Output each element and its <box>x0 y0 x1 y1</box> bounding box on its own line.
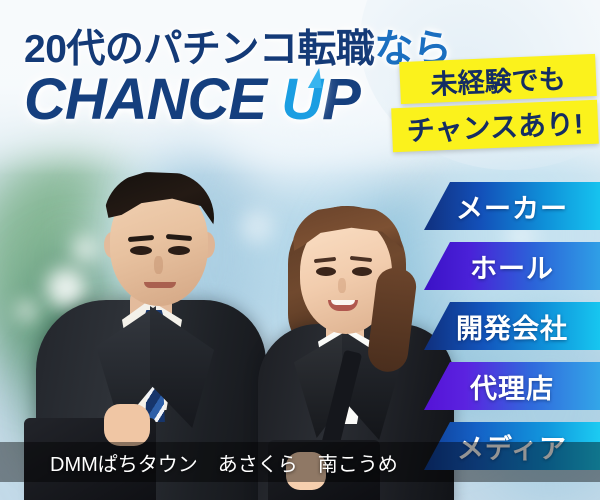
category-item-development-company[interactable]: 開発会社 <box>424 302 600 350</box>
male-hand <box>104 404 150 446</box>
logo-p-text: P <box>322 67 360 132</box>
category-list: メーカー ホール 開発会社 代理店 メディア <box>424 182 600 482</box>
male-eye-right <box>168 246 190 255</box>
category-item-hall[interactable]: ホール <box>424 242 600 290</box>
badge-line-2-label: チャンスあり! <box>406 102 584 149</box>
chance-up-logo: CHANCE UP <box>24 66 360 133</box>
logo-chance-text: CHANCE <box>24 67 281 132</box>
category-label: 開発会社 <box>456 307 568 346</box>
category-label: 代理店 <box>470 367 554 406</box>
category-label: ホール <box>470 247 554 286</box>
badge-line-1: 未経験でも <box>399 54 597 104</box>
male-eye-left <box>130 246 152 255</box>
category-item-maker[interactable]: メーカー <box>424 182 600 230</box>
female-teeth <box>331 300 355 305</box>
female-eye-right <box>352 267 372 276</box>
bokeh-light <box>240 210 274 244</box>
male-nose <box>154 256 163 274</box>
bokeh-light <box>46 268 86 308</box>
female-eye-left <box>316 267 336 276</box>
badge-line-1-label: 未経験でも <box>430 57 567 102</box>
caption-text: DMMぱちタウン あさくら 南こうめ <box>0 448 398 477</box>
logo-u-letter: U <box>281 66 322 133</box>
headline-main: 20代のパチンコ転職 <box>24 28 374 71</box>
caption-strip: DMMぱちタウン あさくら 南こうめ <box>0 442 600 482</box>
female-nose <box>338 278 346 293</box>
category-item-agency[interactable]: 代理店 <box>424 362 600 410</box>
male-mouth <box>144 282 176 288</box>
category-label: メーカー <box>456 187 568 226</box>
recruitment-banner: 20代のパチンコ転職なら CHANCE UP 未経験でも チャンスあり! メーカ… <box>0 0 600 500</box>
bokeh-light <box>72 236 98 262</box>
badge-line-2: チャンスあり! <box>391 100 599 153</box>
bokeh-light <box>16 300 38 322</box>
